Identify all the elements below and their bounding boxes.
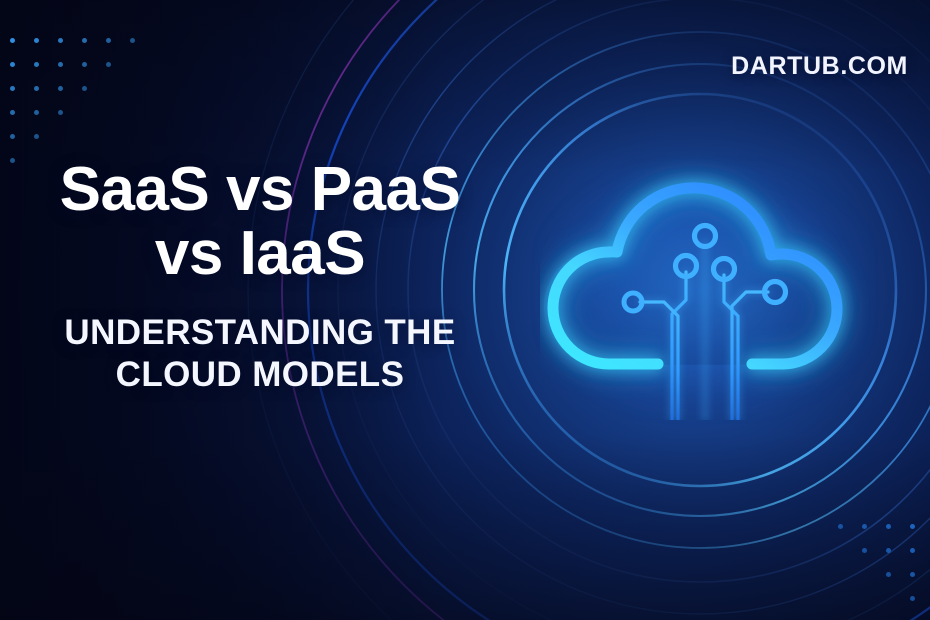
page-title-line-1: SaaS vs PaaS: [60, 155, 461, 224]
page-subtitle-line-2: CLOUD MODELS: [0, 354, 520, 397]
page-title-line-2: vs IaaS: [0, 222, 520, 286]
page-subtitle: UNDERSTANDING THE CLOUD MODELS: [0, 312, 520, 397]
cloud-models-title-slide: DARTUB.COM SaaS vs PaaS vs IaaS UNDERSTA…: [0, 0, 930, 620]
site-watermark: DARTUB.COM: [731, 52, 908, 81]
title-text-block: SaaS vs PaaS vs IaaS UNDERSTANDING THE C…: [0, 158, 520, 397]
page-title: SaaS vs PaaS vs IaaS: [0, 158, 520, 286]
page-subtitle-line-1: UNDERSTANDING THE: [64, 313, 455, 352]
